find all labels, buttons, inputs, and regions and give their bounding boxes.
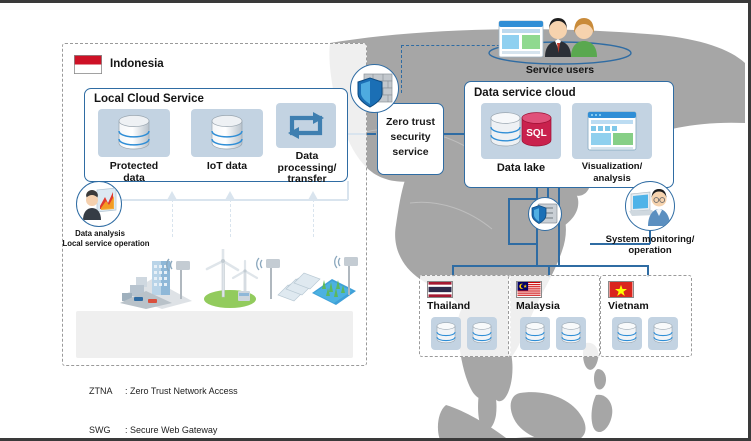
thailand-flag: [427, 281, 453, 298]
abbr-expansion-swg: Secure Web Gateway: [130, 425, 217, 435]
database-icon: [560, 321, 582, 346]
database-icon: [616, 321, 638, 346]
caption-protected-data: Protected data: [98, 161, 170, 184]
tile-data-lake[interactable]: SQL: [481, 103, 561, 159]
label-service-users: Service users: [485, 65, 635, 77]
tile-vietnam-db-1[interactable]: [612, 317, 642, 350]
abbr-sep: :: [125, 386, 128, 396]
tile-iot-data[interactable]: [191, 109, 263, 157]
agriculture-icon: [276, 249, 364, 309]
data-service-cloud-title: Data service cloud: [474, 87, 576, 99]
country-label-vietnam: Vietnam: [608, 300, 649, 312]
tile-malaysia-db-2[interactable]: [556, 317, 586, 350]
caption-data-lake: Data lake: [481, 163, 561, 175]
tile-malaysia-db-1[interactable]: [520, 317, 550, 350]
zero-trust-label-line3: service: [377, 145, 444, 160]
abbr-key-ztna: ZTNA: [89, 385, 125, 398]
local-cloud-service-title: Local Cloud Service: [94, 93, 204, 105]
visualization-icon: [586, 109, 638, 153]
link-country-bus: [452, 265, 648, 267]
caption-line-1: Data processing/ transfer: [278, 150, 337, 185]
vietnam-flag: [608, 281, 634, 298]
tile-thailand-db-1[interactable]: [431, 317, 461, 350]
label-local-service-operation: Local service operation: [58, 239, 154, 249]
label-system-monitoring-line2: operation: [600, 245, 700, 257]
sectors-legend-box: [76, 311, 353, 358]
sql-badge-text: SQL: [526, 128, 547, 139]
label-system-monitoring-line1: System monitoring/: [600, 234, 700, 246]
operator-monitor-icon: [628, 184, 672, 228]
link-zerotrust-datacloud: [444, 133, 464, 135]
abbr-row-swg: SWG: Secure Web Gateway: [74, 411, 314, 441]
label-data-analysis: Data analysis: [66, 229, 134, 239]
service-users-group[interactable]: [485, 13, 635, 65]
caption-iot-data: IoT data: [191, 161, 263, 173]
abbr-sep: :: [125, 425, 128, 435]
indonesia-flag: [74, 55, 102, 74]
country-label-indonesia: Indonesia: [110, 58, 164, 70]
tile-visualization-analysis[interactable]: [572, 103, 652, 159]
tile-thailand-db-2[interactable]: [467, 317, 497, 350]
zero-trust-label-line1: Zero trust: [377, 115, 444, 130]
link-node-left-v: [508, 198, 510, 243]
abbr-key-swg: SWG: [89, 424, 125, 437]
badge-secure-network-node[interactable]: [528, 197, 562, 231]
database-icon: [435, 321, 457, 346]
tile-vietnam-db-2[interactable]: [648, 317, 678, 350]
link-datacloud-down-c: [558, 188, 560, 265]
secure-network-icon: [531, 200, 559, 228]
database-icon: [524, 321, 546, 346]
link-serviceusers-dash-vert: [401, 45, 402, 93]
country-label-thailand: Thailand: [427, 300, 470, 312]
badge-system-monitoring[interactable]: [625, 181, 675, 231]
database-icon: [652, 321, 674, 346]
tile-data-processing-transfer[interactable]: [276, 103, 336, 148]
database-icon: [116, 113, 152, 153]
malaysia-flag: [516, 281, 542, 298]
data-lake-icon: SQL: [488, 108, 554, 154]
database-icon: [471, 321, 493, 346]
tile-protected-data[interactable]: [98, 109, 170, 157]
analyst-chart-icon: [79, 184, 119, 224]
smart-city-icon: [118, 251, 200, 309]
abbreviations-block: ZTNA: Zero Trust Network Access SWG: Sec…: [74, 372, 314, 441]
badge-data-analysis[interactable]: [76, 181, 122, 227]
caption-visualization-analysis: Visualization/ analysis: [569, 161, 655, 184]
abbr-expansion-ztna: Zero Trust Network Access: [130, 386, 238, 396]
country-label-malaysia: Malaysia: [516, 300, 560, 312]
badge-zero-trust-firewall[interactable]: [350, 64, 399, 113]
users-dashboard-icon: [499, 21, 543, 57]
diagram-canvas: Indonesia Local Cloud Service Protected …: [0, 0, 751, 441]
abbr-row-ztna: ZTNA: Zero Trust Network Access: [74, 372, 314, 411]
zero-trust-label-line2: security: [377, 130, 444, 145]
zero-trust-label: Zero trust security service: [377, 115, 444, 160]
wind-turbine-icon: [198, 249, 284, 309]
firewall-shield-icon: [354, 68, 396, 110]
link-node-left: [508, 198, 538, 200]
database-icon: [209, 113, 245, 153]
caption-data-processing-transfer: Data processing/ transfer: [272, 151, 342, 186]
link-node-left-bottom: [508, 243, 538, 245]
refresh-loop-icon: [286, 109, 326, 142]
